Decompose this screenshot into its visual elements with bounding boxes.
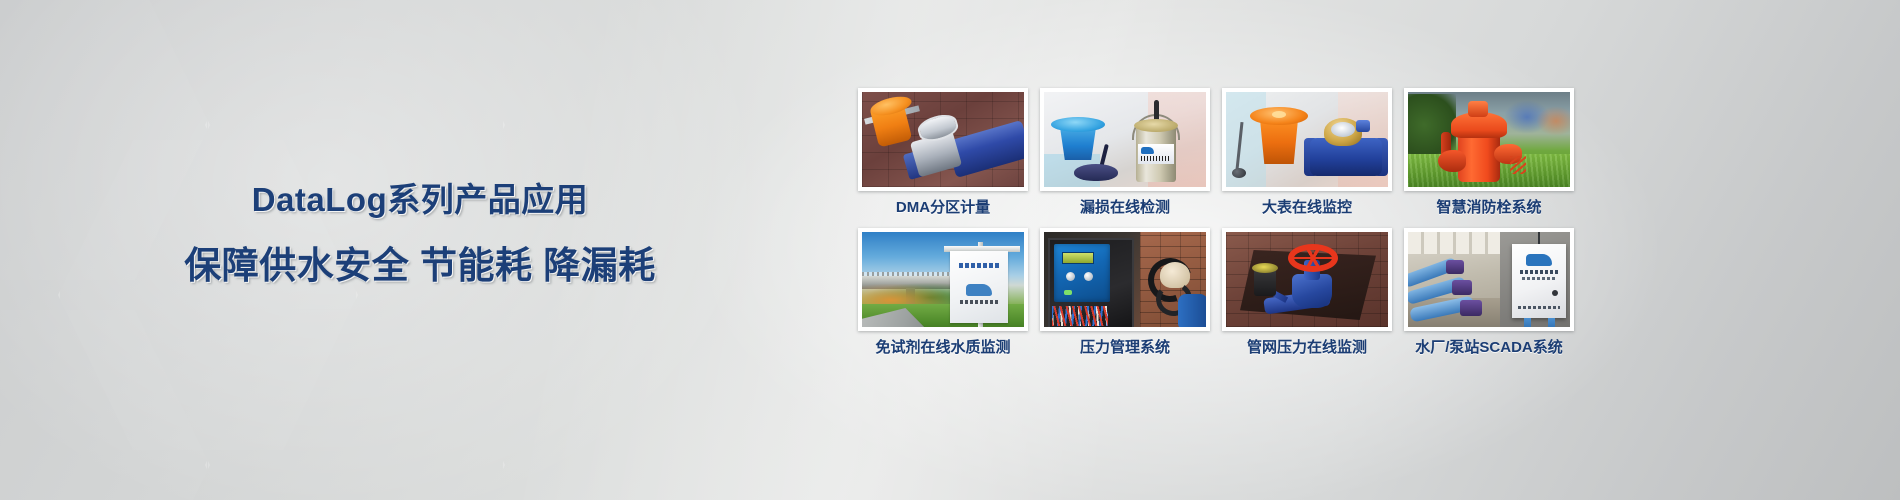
- hydrant-nozzle-left: [1438, 150, 1466, 172]
- blue-enclosure-lid: [1051, 117, 1105, 132]
- sign-subtitle-text: [960, 300, 998, 304]
- sign-title-text: [959, 263, 999, 268]
- hydrant-chain: [1510, 156, 1526, 174]
- background-bokeh: [1536, 106, 1570, 136]
- thumbnail-frame[interactable]: [858, 228, 1028, 331]
- product-caption: 智慧消防栓系统: [1404, 198, 1574, 218]
- cable-conduit: [1548, 318, 1555, 327]
- controller-button: [1066, 272, 1075, 281]
- hexagon-shape: [0, 300, 210, 500]
- cabinet-model-text: [1522, 277, 1556, 280]
- meter-cap: [1356, 120, 1370, 132]
- cover-logo: [1272, 111, 1286, 118]
- product-caption: 管网压力在线监测: [1222, 338, 1392, 358]
- dma-flow-meter-image: [862, 92, 1024, 187]
- pump-motor: [1446, 260, 1464, 274]
- banner-headline: DataLog系列产品应用 保障供水安全 节能耗 降漏耗: [0, 178, 840, 289]
- status-led: [1064, 290, 1072, 295]
- brand-logo: [1526, 254, 1552, 266]
- pump-motor: [1452, 280, 1472, 295]
- thumbnail-frame[interactable]: [1040, 228, 1210, 331]
- product-card-leak-detection[interactable]: 漏损在线检测: [1040, 88, 1210, 218]
- product-caption: DMA分区计量: [858, 198, 1028, 218]
- red-handwheel: [1288, 244, 1338, 272]
- brand-logo: [966, 284, 992, 296]
- product-application-banner: DataLog系列产品应用 保障供水安全 节能耗 降漏耗 DMA分区计量: [0, 0, 1900, 500]
- blue-pressure-tank: [1178, 294, 1206, 327]
- pump-motor: [1460, 300, 1482, 316]
- hydrant-top-cap: [1468, 101, 1488, 117]
- product-caption: 免试剂在线水质监测: [858, 338, 1028, 358]
- controller-button: [1084, 272, 1093, 281]
- brand-logo: [1141, 147, 1154, 154]
- thumbnail-frame[interactable]: [1040, 88, 1210, 191]
- wireless-logger: [1074, 164, 1118, 181]
- product-card-water-quality[interactable]: 免试剂在线水质监测: [858, 228, 1028, 358]
- valve-chamber-image: [1226, 232, 1388, 327]
- product-caption: 水厂/泵站SCADA系统: [1404, 338, 1574, 358]
- product-card-network-pressure[interactable]: 管网压力在线监测: [1222, 228, 1392, 358]
- ceiling: [1408, 232, 1500, 254]
- thumbnail-frame[interactable]: [1404, 228, 1574, 331]
- pump-station-scada-image: [1408, 232, 1570, 327]
- cabinet-lock: [1552, 290, 1558, 296]
- meter-dial: [1331, 122, 1355, 137]
- pressure-sensor-cap: [1252, 263, 1278, 273]
- cable-conduit: [1524, 318, 1531, 327]
- product-thumbnail-grid: DMA分区计量: [858, 88, 1586, 358]
- controller-display: [1062, 252, 1094, 264]
- thumbnail-frame[interactable]: [1222, 88, 1392, 191]
- hexagon-shape: [205, 300, 505, 500]
- product-card-dma[interactable]: DMA分区计量: [858, 88, 1028, 218]
- product-caption: 压力管理系统: [1040, 338, 1210, 358]
- product-caption: 漏损在线检测: [1040, 198, 1210, 218]
- pressure-control-panel-image: [1044, 232, 1206, 327]
- product-card-scada[interactable]: 水厂/泵站SCADA系统: [1404, 228, 1574, 358]
- product-card-pressure-management[interactable]: 压力管理系统: [1040, 228, 1210, 358]
- leak-logger-image: [1044, 92, 1206, 187]
- headline-line-2: 保障供水安全 节能耗 降漏耗: [0, 243, 840, 289]
- thumbnail-frame[interactable]: [1404, 88, 1574, 191]
- antenna-base: [1232, 168, 1246, 178]
- noise-logger-cap: [1134, 119, 1178, 132]
- barcode: [1141, 156, 1171, 161]
- product-caption: 大表在线监控: [1222, 198, 1392, 218]
- thumbnail-frame[interactable]: [1222, 228, 1392, 331]
- large-meter-image: [1226, 92, 1388, 187]
- water-quality-station-image: [862, 232, 1024, 327]
- cabinet-title-text: [1520, 270, 1558, 274]
- cabinet-footer-text: [1518, 306, 1560, 309]
- fire-hydrant-image: [1408, 92, 1570, 187]
- product-card-smart-hydrant[interactable]: 智慧消防栓系统: [1404, 88, 1574, 218]
- wiring-harness: [1052, 306, 1108, 326]
- product-card-large-meter[interactable]: 大表在线监控: [1222, 88, 1392, 218]
- thumbnail-frame[interactable]: [858, 88, 1028, 191]
- headline-line-1: DataLog系列产品应用: [0, 178, 840, 222]
